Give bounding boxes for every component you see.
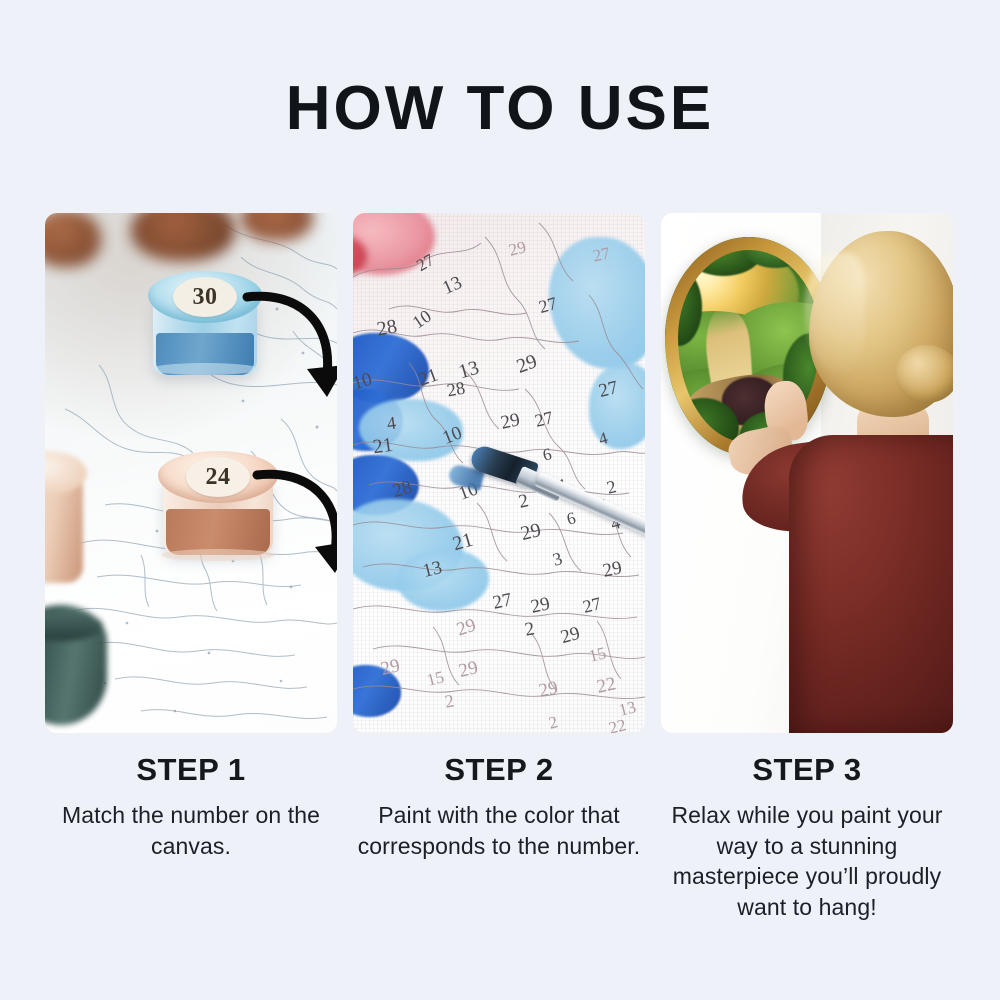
paint-pot-number-label: 24 xyxy=(186,457,250,497)
paint-pot-number-label: 30 xyxy=(173,277,237,317)
step-1-caption: STEP 1 Match the number on the canvas. xyxy=(45,753,337,922)
person-shirt xyxy=(789,435,953,733)
step-1-image: 30 24 xyxy=(45,213,337,733)
canvas-number: 28 xyxy=(445,378,466,402)
step-2-label: STEP 2 xyxy=(353,753,645,787)
step-2-description: Paint with the color that corresponds to… xyxy=(353,800,645,861)
paintbrush xyxy=(463,441,645,551)
steps-image-row: 30 24 xyxy=(45,213,955,733)
page-title: HOW TO USE xyxy=(0,78,1000,140)
paintbrush-handle xyxy=(534,472,645,563)
canvas-number: 28 xyxy=(375,315,399,341)
arrow-pot-30-to-canvas xyxy=(241,289,337,425)
background-paint-pot xyxy=(45,461,83,583)
step-3-label: STEP 3 xyxy=(661,753,953,787)
step-2-image: 29 27 27 13 27 28 10 10 21 13 28 29 27 4… xyxy=(353,213,645,733)
step-3-description: Relax while you paint your way to a stun… xyxy=(661,800,953,922)
person-hair-bun xyxy=(895,345,953,403)
step-3-image xyxy=(661,213,953,733)
step-1-description: Match the number on the canvas. xyxy=(45,800,337,861)
canvas-number: 21 xyxy=(371,434,394,460)
steps-caption-row: STEP 1 Match the number on the canvas. S… xyxy=(45,753,955,922)
arrow-pot-24-to-canvas xyxy=(251,469,337,601)
step-2-caption: STEP 2 Paint with the color that corresp… xyxy=(353,753,645,922)
step-1-label: STEP 1 xyxy=(45,753,337,787)
person-viewing-painting xyxy=(783,213,953,733)
step-3-caption: STEP 3 Relax while you paint your way to… xyxy=(661,753,953,922)
